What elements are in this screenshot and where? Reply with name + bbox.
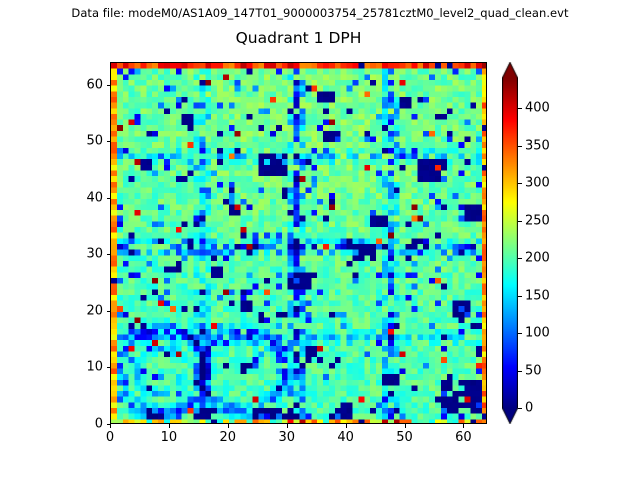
y-tick-label: 50 xyxy=(86,134,103,149)
colorbar-tick-mark xyxy=(518,408,522,409)
colorbar-tick-mark xyxy=(518,296,522,297)
colorbar-tick-mark xyxy=(518,371,522,372)
data-file-label: Data file: modeM0/AS1A09_147T01_90000037… xyxy=(0,6,640,20)
y-tick-label: 0 xyxy=(95,417,103,432)
colorbar-tick-label: 250 xyxy=(525,213,550,228)
colorbar-tick-label: 0 xyxy=(525,401,533,416)
colorbar-tick-label: 200 xyxy=(525,251,550,266)
x-tick-mark xyxy=(405,424,406,428)
colorbar xyxy=(502,62,518,424)
colorbar-tick-label: 350 xyxy=(525,138,550,153)
y-tick-mark xyxy=(107,85,111,86)
matplotlib-figure: Data file: modeM0/AS1A09_147T01_90000037… xyxy=(0,0,640,480)
colorbar-tick-mark xyxy=(518,258,522,259)
colorbar-tick-label: 50 xyxy=(525,363,542,378)
y-tick-mark xyxy=(107,311,111,312)
x-tick-mark xyxy=(228,424,229,428)
page-title: Quadrant 1 DPH xyxy=(110,29,487,47)
heatmap-plot-area xyxy=(110,62,487,424)
colorbar-gradient xyxy=(502,62,518,424)
y-tick-label: 40 xyxy=(86,190,103,205)
y-tick-label: 10 xyxy=(86,360,103,375)
colorbar-tick-mark xyxy=(518,108,522,109)
x-tick-mark xyxy=(463,424,464,428)
x-tick-label: 20 xyxy=(220,430,237,445)
x-tick-mark xyxy=(287,424,288,428)
y-tick-mark xyxy=(107,141,111,142)
y-tick-mark xyxy=(107,424,111,425)
x-tick-label: 0 xyxy=(106,430,114,445)
x-tick-label: 30 xyxy=(278,430,295,445)
y-tick-label: 20 xyxy=(86,303,103,318)
x-tick-mark xyxy=(110,424,111,428)
x-tick-label: 10 xyxy=(161,430,178,445)
y-tick-mark xyxy=(107,254,111,255)
colorbar-tick-mark xyxy=(518,333,522,334)
colorbar-tick-label: 100 xyxy=(525,326,550,341)
colorbar-tick-mark xyxy=(518,183,522,184)
y-tick-label: 30 xyxy=(86,247,103,262)
colorbar-tick-mark xyxy=(518,146,522,147)
x-tick-label: 40 xyxy=(337,430,354,445)
x-tick-label: 50 xyxy=(396,430,413,445)
y-tick-mark xyxy=(107,367,111,368)
x-tick-mark xyxy=(169,424,170,428)
x-tick-label: 60 xyxy=(455,430,472,445)
colorbar-tick-mark xyxy=(518,221,522,222)
colorbar-tick-label: 400 xyxy=(525,101,550,116)
x-tick-mark xyxy=(346,424,347,428)
heatmap-image xyxy=(111,63,487,424)
colorbar-tick-label: 150 xyxy=(525,288,550,303)
y-tick-mark xyxy=(107,198,111,199)
y-tick-label: 60 xyxy=(86,77,103,92)
colorbar-tick-label: 300 xyxy=(525,176,550,191)
